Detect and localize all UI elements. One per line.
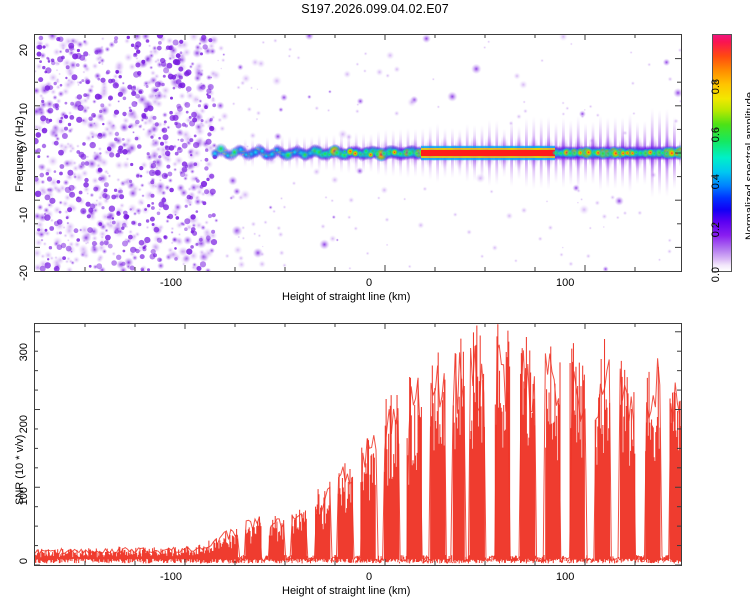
spectrogram-ytick-minus20: -20 bbox=[18, 265, 30, 281]
colorbar-tick-02: 0.2 bbox=[710, 222, 722, 237]
spectrogram-panel: Frequency (Hz) 20 10 0 -10 -20 bbox=[0, 0, 750, 305]
spectrogram-x-axis-label: Height of straight line (km) bbox=[282, 291, 410, 303]
snr-x-axis-label: Height of straight line (km) bbox=[282, 585, 410, 597]
spectrogram-xtick-minus100: -100 bbox=[160, 277, 182, 289]
snr-trace bbox=[35, 324, 681, 565]
spectrogram-image: generated below by JS bbox=[35, 35, 681, 271]
figure-root: S197.2026.099.04.02.E07 Frequency (Hz) 2… bbox=[0, 0, 750, 600]
colorbar-tick-00: 0.0 bbox=[710, 267, 722, 282]
snr-xtick-0: 0 bbox=[366, 571, 372, 583]
spectrogram-y-axis-label: Frequency (Hz) bbox=[14, 116, 26, 192]
colorbar-label: Normalized spectral amplitude bbox=[744, 92, 750, 240]
snr-ytick-100: 100 bbox=[18, 487, 30, 505]
spectrogram-xtick-100: 100 bbox=[556, 277, 574, 289]
colorbar-tick-06: 0.6 bbox=[710, 127, 722, 142]
spectrogram-ytick-20: 20 bbox=[18, 44, 30, 56]
colorbar-tick-08: 0.8 bbox=[710, 79, 722, 94]
snr-ytick-200: 200 bbox=[18, 415, 30, 433]
snr-plot-area bbox=[34, 323, 682, 566]
spectrogram-ytick-0: 0 bbox=[18, 146, 30, 152]
snr-panel: SNR (10 * v/v) 300 200 100 0 -100 0 100 … bbox=[0, 305, 750, 600]
snr-ytick-300: 300 bbox=[18, 343, 30, 361]
colorbar-tick-04: 0.4 bbox=[710, 174, 722, 189]
spectrogram-xtick-0: 0 bbox=[366, 277, 372, 289]
spectrogram-plot-area: generated below by JS bbox=[34, 34, 682, 272]
snr-ytick-0: 0 bbox=[18, 558, 30, 564]
snr-xtick-minus100: -100 bbox=[160, 571, 182, 583]
spectrogram-ytick-10: 10 bbox=[18, 103, 30, 115]
snr-xtick-100: 100 bbox=[556, 571, 574, 583]
spectrogram-ytick-minus10: -10 bbox=[18, 207, 30, 223]
